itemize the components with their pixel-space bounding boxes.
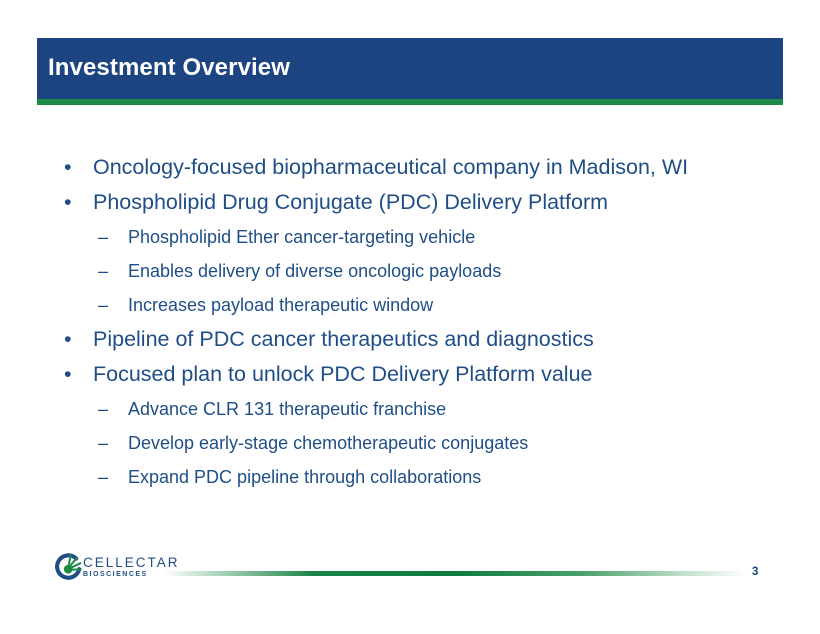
dash-marker-icon: – <box>98 392 108 426</box>
logo-wordmark: CELLECTAR BIOSCIENCES <box>83 556 175 580</box>
company-logo: CELLECTAR BIOSCIENCES <box>52 549 172 587</box>
bullet-text: Phospholipid Drug Conjugate (PDC) Delive… <box>93 185 608 220</box>
bullet-text: Oncology-focused biopharmaceutical compa… <box>93 150 688 185</box>
bullet-text: Focused plan to unlock PDC Delivery Plat… <box>93 357 593 392</box>
bullet-marker-icon: • <box>64 150 72 185</box>
page-number: 3 <box>752 566 782 578</box>
bullet-marker-icon: • <box>64 322 72 357</box>
sub-bullet-item: –Phospholipid Ether cancer-targeting veh… <box>56 220 776 254</box>
bullet-text: Increases payload therapeutic window <box>128 288 433 322</box>
bullet-text: Phospholipid Ether cancer-targeting vehi… <box>128 220 475 254</box>
cellectar-burst-c-icon <box>52 551 86 585</box>
bullet-item: •Oncology-focused biopharmaceutical comp… <box>56 150 776 185</box>
dash-marker-icon: – <box>98 288 108 322</box>
bullet-marker-icon: • <box>64 185 72 220</box>
bullet-item: •Pipeline of PDC cancer therapeutics and… <box>56 322 776 357</box>
bullet-text: Develop early-stage chemotherapeutic con… <box>128 426 528 460</box>
title-accent-rule <box>37 99 783 105</box>
title-band: Investment Overview <box>37 38 783 104</box>
dash-marker-icon: – <box>98 426 108 460</box>
logo-company-name: CELLECTAR <box>83 556 175 570</box>
slide-canvas: Investment Overview •Oncology-focused bi… <box>0 0 820 634</box>
sub-bullet-item: –Develop early-stage chemotherapeutic co… <box>56 426 776 460</box>
sub-bullet-item: –Expand PDC pipeline through collaborati… <box>56 460 776 494</box>
footer-accent-bar <box>163 571 747 576</box>
page-title: Investment Overview <box>48 38 290 98</box>
bullet-text: Enables delivery of diverse oncologic pa… <box>128 254 501 288</box>
sub-bullet-item: –Enables delivery of diverse oncologic p… <box>56 254 776 288</box>
bullet-item: •Focused plan to unlock PDC Delivery Pla… <box>56 357 776 392</box>
bullet-marker-icon: • <box>64 357 72 392</box>
bullet-text: Advance CLR 131 therapeutic franchise <box>128 392 446 426</box>
dash-marker-icon: – <box>98 254 108 288</box>
logo-company-tagline: BIOSCIENCES <box>83 570 175 580</box>
dash-marker-icon: – <box>98 460 108 494</box>
dash-marker-icon: – <box>98 220 108 254</box>
sub-bullet-item: –Advance CLR 131 therapeutic franchise <box>56 392 776 426</box>
bullet-text: Expand PDC pipeline through collaboratio… <box>128 460 481 494</box>
bullet-list: •Oncology-focused biopharmaceutical comp… <box>56 150 776 494</box>
bullet-text: Pipeline of PDC cancer therapeutics and … <box>93 322 594 357</box>
bullet-item: •Phospholipid Drug Conjugate (PDC) Deliv… <box>56 185 776 220</box>
sub-bullet-item: –Increases payload therapeutic window <box>56 288 776 322</box>
